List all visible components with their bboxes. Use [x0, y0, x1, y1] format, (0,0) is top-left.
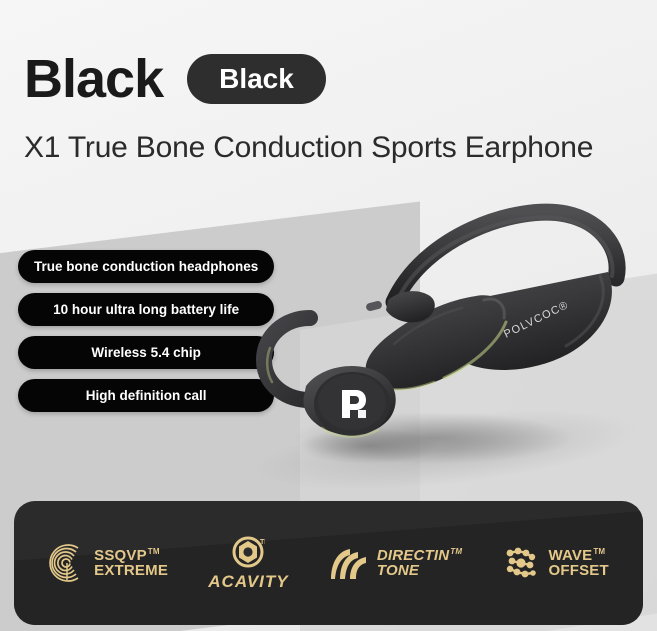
badge-acavity: TM ACAVITY — [208, 535, 288, 590]
badge-ssqvp-extreme: SSQVPTM EXTREME — [48, 544, 168, 582]
badge-line-1: WAVETM — [548, 548, 608, 563]
feature-pill: 10 hour ultra long battery life — [18, 293, 274, 326]
badge-label: DIRECTINTM TONE — [377, 548, 462, 579]
badge-line-2: TONE — [377, 563, 462, 578]
feature-pill: High definition call — [18, 379, 274, 412]
page-title: Black — [24, 52, 163, 106]
product-subtitle: X1 True Bone Conduction Sports Earphone — [24, 131, 593, 165]
dot-matrix-wave-icon — [502, 544, 540, 582]
earphone-illustration: POLVCOC® — [248, 196, 657, 486]
hexagon-target-icon: TM — [231, 535, 265, 569]
product-image: POLVCOC® — [248, 196, 657, 486]
feature-pill: True bone conduction headphones — [18, 250, 274, 283]
slanted-bars-icon — [329, 545, 369, 581]
concentric-arcs-icon — [48, 544, 86, 582]
tech-badge-bar: SSQVPTM EXTREME TM ACAVITY — [14, 501, 643, 625]
badge-line-1: ACAVITY — [208, 573, 288, 590]
badge-line-1: SSQVPTM — [94, 548, 168, 563]
feature-list: True bone conduction headphones 10 hour … — [18, 250, 274, 412]
badge-line-2: OFFSET — [548, 563, 608, 578]
badge-label: ACAVITY — [208, 573, 288, 590]
badge-wave-offset: WAVETM OFFSET — [502, 544, 608, 582]
header: Black Black — [24, 52, 326, 106]
feature-pill: Wireless 5.4 chip — [18, 336, 274, 369]
badge-directin-tone: DIRECTINTM TONE — [329, 545, 462, 581]
svg-text:TM: TM — [260, 539, 265, 546]
badge-label: WAVETM OFFSET — [548, 548, 608, 579]
color-variant-badge[interactable]: Black — [187, 54, 326, 104]
badge-label: SSQVPTM EXTREME — [94, 548, 168, 579]
badge-line-1: DIRECTINTM — [377, 548, 462, 563]
badge-line-2: EXTREME — [94, 563, 168, 578]
product-detail-page: Black Black X1 True Bone Conduction Spor… — [0, 0, 657, 631]
